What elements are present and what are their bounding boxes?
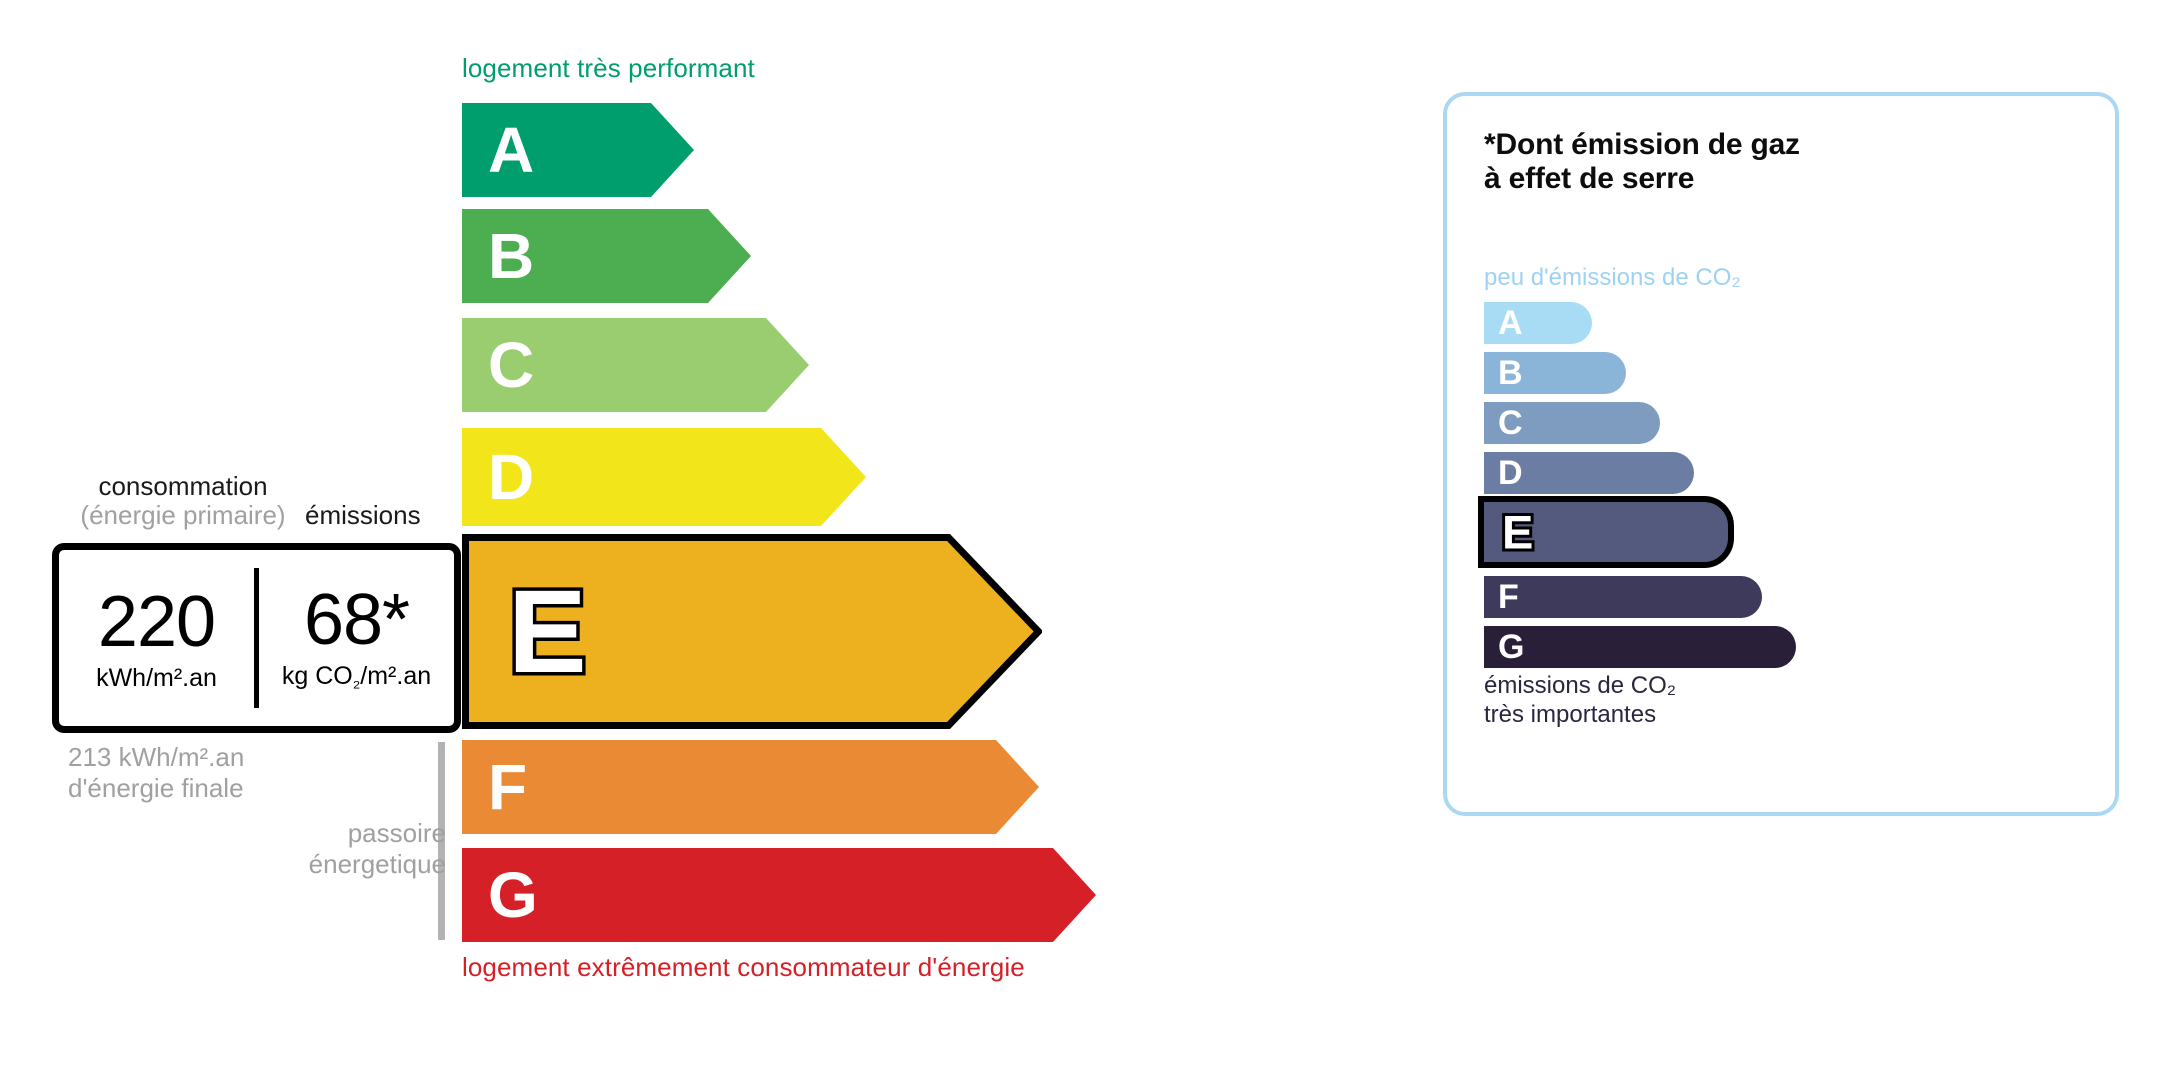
energy-value: 220	[98, 586, 215, 658]
ladder-top-caption: logement très performant	[462, 53, 755, 84]
final-energy-line1: 213 kWh/m².an	[68, 742, 244, 773]
energy-band-e-selected[interactable]: E	[462, 534, 1042, 729]
co2-band-e-letter: E	[1502, 509, 1533, 556]
co2-panel-title: *Dont émission de gaz à effet de serre	[1484, 128, 1800, 195]
co2-band-f-letter: F	[1498, 580, 1519, 614]
co2-band-a-letter: A	[1498, 306, 1523, 340]
consumption-label-sub: (énergie primaire)	[63, 501, 303, 530]
energy-band-b[interactable]: B	[462, 209, 751, 303]
value-box-co2-cell: 68* kg CO₂/m².an	[259, 550, 454, 726]
passoire-line1: passoire	[276, 818, 446, 849]
passoire-label: passoire énergetique	[276, 818, 446, 880]
passoire-line2: énergetique	[276, 849, 446, 880]
energy-band-g-arrow	[462, 848, 1096, 942]
energy-band-a[interactable]: A	[462, 103, 694, 197]
energy-band-c-letter: C	[488, 333, 534, 397]
co2-title-line1: *Dont émission de gaz	[1484, 128, 1800, 162]
co2-band-d-letter: D	[1498, 456, 1523, 490]
co2-bottom-caption: émissions de CO₂ très importantes	[1484, 672, 1676, 730]
co2-bottom-caption-line1: émissions de CO₂	[1484, 672, 1676, 701]
energy-band-f[interactable]: F	[462, 740, 1039, 834]
ladder-bottom-caption: logement extrêmement consommateur d'éner…	[462, 952, 1025, 983]
dpe-diagram: logement très performant A B C D E F	[0, 0, 2169, 1079]
co2-band-b-letter: B	[1498, 356, 1523, 390]
energy-performance-ladder: logement très performant A B C D E F	[0, 0, 1350, 1079]
co2-band-c[interactable]: C	[1484, 402, 1660, 444]
energy-band-g[interactable]: G	[462, 848, 1096, 942]
co2-band-g[interactable]: G	[1484, 626, 1796, 668]
co2-band-f[interactable]: F	[1484, 576, 1762, 618]
co2-unit-prefix: kg CO	[282, 662, 353, 690]
co2-unit: kg CO₂/m².an	[282, 664, 431, 692]
co2-title-line2: à effet de serre	[1484, 162, 1800, 196]
energy-band-d[interactable]: D	[462, 428, 866, 526]
energy-unit: kWh/m².an	[96, 666, 217, 691]
consumption-label: consommation (énergie primaire)	[63, 472, 303, 530]
co2-unit-suffix: /m².an	[360, 662, 431, 690]
energy-band-d-letter: D	[488, 445, 534, 509]
energy-band-g-letter: G	[488, 863, 538, 927]
co2-band-c-letter: C	[1498, 406, 1523, 440]
consumption-label-main: consommation	[98, 471, 267, 501]
co2-band-g-letter: G	[1498, 630, 1524, 664]
co2-band-b[interactable]: B	[1484, 352, 1626, 394]
energy-band-b-letter: B	[488, 224, 534, 288]
final-energy-line2: d'énergie finale	[68, 773, 244, 804]
emissions-label: émissions	[305, 500, 421, 531]
value-box-energy-cell: 220 kWh/m².an	[59, 550, 254, 726]
final-energy-label: 213 kWh/m².an d'énergie finale	[68, 742, 244, 804]
co2-bottom-caption-line2: très importantes	[1484, 701, 1676, 730]
energy-band-a-letter: A	[488, 118, 534, 182]
co2-top-caption: peu d'émissions de CO₂	[1484, 264, 1741, 292]
energy-band-c[interactable]: C	[462, 318, 809, 412]
co2-panel: *Dont émission de gaz à effet de serre p…	[1443, 92, 2119, 816]
co2-band-e-selected[interactable]: E	[1478, 496, 1734, 568]
energy-band-e-letter: E	[508, 573, 587, 691]
energy-band-f-arrow	[462, 740, 1039, 834]
energy-band-f-letter: F	[488, 755, 527, 819]
co2-band-d[interactable]: D	[1484, 452, 1694, 494]
value-box: 220 kWh/m².an 68* kg CO₂/m².an	[52, 543, 461, 733]
co2-value: 68*	[304, 584, 409, 656]
co2-band-a[interactable]: A	[1484, 302, 1592, 344]
